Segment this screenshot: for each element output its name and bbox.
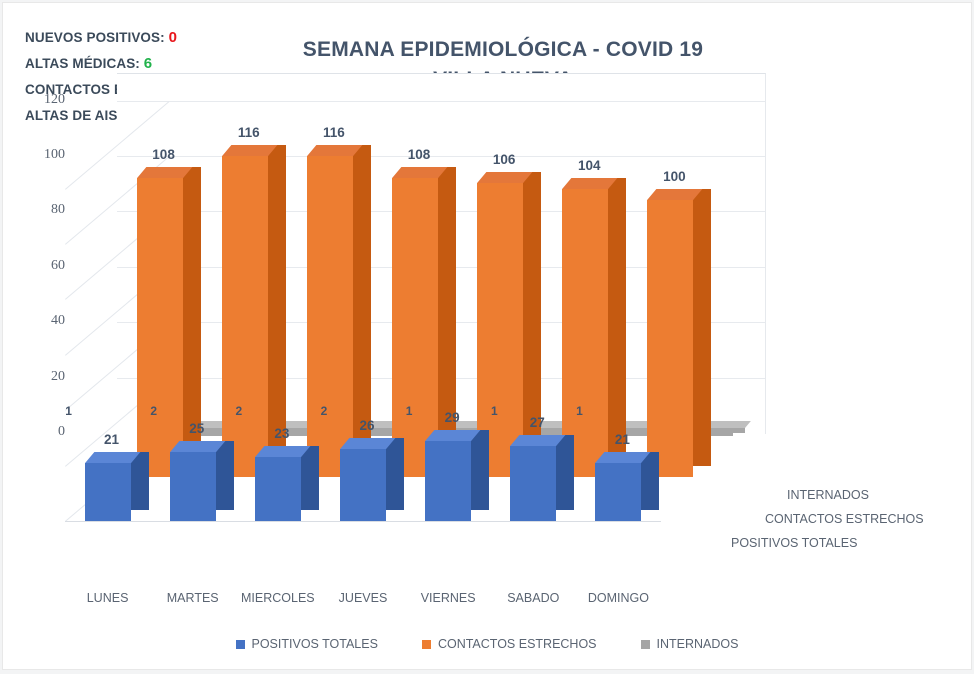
legend-label: INTERNADOS (657, 637, 739, 651)
bar-side (556, 435, 574, 510)
bar-face (510, 446, 556, 521)
bar-value-label: 21 (592, 432, 652, 447)
legend-label: POSITIVOS TOTALES (252, 637, 378, 651)
legend-item-contactos[interactable]: CONTACTOS ESTRECHOS (422, 637, 597, 651)
bar-value-label: 21 (82, 432, 142, 447)
stat-label: ALTAS MÉDICAS: (25, 56, 140, 71)
bar-value-label: 23 (252, 426, 312, 441)
bar-value-label: 116 (219, 125, 279, 140)
depth-axis: INTERNADOS CONTACTOS ESTRECHOS POSITIVOS… (765, 483, 971, 555)
depth-label-positivos: POSITIVOS TOTALES (731, 531, 971, 555)
bar-side (641, 452, 659, 510)
bar-face (647, 200, 693, 477)
stat-label: NUEVOS POSITIVOS: (25, 30, 165, 45)
bar-top (562, 178, 617, 189)
bar-value-label-internados: 1 (379, 404, 439, 418)
legend-swatch-blue (236, 640, 245, 649)
chart-title-line1: SEMANA EPIDEMIOLÓGICA - COVID 19 (253, 35, 753, 65)
bar-top (425, 430, 480, 441)
y-axis-tick: 0 (21, 424, 65, 440)
bar-value-label-internados: 1 (549, 404, 609, 418)
legend-item-positivos[interactable]: POSITIVOS TOTALES (236, 637, 378, 651)
bar-contactos-estrechos (647, 200, 693, 477)
bar-positivos-totales (510, 446, 556, 521)
bar-face (85, 463, 131, 521)
stat-value: 0 (169, 29, 177, 46)
bar-face (595, 463, 641, 521)
y-axis-tick: 100 (21, 147, 65, 163)
y-axis-tick: 120 (21, 92, 65, 108)
bar-value-label-internados: 2 (124, 404, 184, 418)
bar-value-label: 108 (134, 147, 194, 162)
bar-positivos-totales (595, 463, 641, 521)
y-axis-tick: 20 (21, 369, 65, 385)
legend-item-internados[interactable]: INTERNADOS (641, 637, 739, 651)
bar-positivos-totales (425, 441, 471, 521)
bar-top (137, 167, 192, 178)
bar-face (340, 449, 386, 521)
bar-value-label-internados: 2 (294, 404, 354, 418)
stat-value: 6 (144, 55, 152, 72)
y-axis: 020406080100120 (3, 153, 65, 573)
bar-top (307, 145, 362, 156)
x-axis-label: DOMINGO (568, 591, 668, 605)
depth-label-contactos: CONTACTOS ESTRECHOS (765, 507, 971, 531)
chart-legend: POSITIVOS TOTALES CONTACTOS ESTRECHOS IN… (3, 637, 971, 651)
bar-positivos-totales (85, 463, 131, 521)
y-axis-tick: 40 (21, 313, 65, 329)
bar-top (510, 435, 565, 446)
bar-side (301, 446, 319, 510)
bar-value-label: 108 (389, 147, 449, 162)
bar-positivos-totales (255, 457, 301, 521)
bar-face (425, 441, 471, 521)
bar-side (268, 145, 286, 466)
legend-swatch-orange (422, 640, 431, 649)
legend-swatch-gray (641, 640, 650, 649)
bar-side (608, 178, 626, 466)
bar-top (222, 145, 277, 156)
plot-area: 1081161161081061041002112522322622912712… (65, 161, 765, 573)
bar-side (693, 189, 711, 466)
bar-value-label: 100 (644, 169, 704, 184)
bar-positivos-totales (340, 449, 386, 521)
bar-value-label-internados: 1 (464, 404, 524, 418)
bar-top (647, 189, 702, 200)
bar-face (255, 457, 301, 521)
y-axis-tick: 80 (21, 202, 65, 218)
bar-value-label: 26 (337, 418, 397, 433)
bar-value-label-internados: 1 (39, 404, 99, 418)
bar-face (170, 452, 216, 521)
chart-card: NUEVOS POSITIVOS: 0 ALTAS MÉDICAS: 6 CON… (3, 3, 971, 669)
bar-top (340, 438, 395, 449)
bar-positivos-totales (170, 452, 216, 521)
bar-side (471, 430, 489, 510)
bar-value-label-internados: 2 (209, 404, 269, 418)
floor-front-edge (65, 521, 661, 522)
depth-label-internados: INTERNADOS (787, 483, 971, 507)
legend-label: CONTACTOS ESTRECHOS (438, 637, 597, 651)
bar-value-label: 116 (304, 125, 364, 140)
bar-value-label: 106 (474, 152, 534, 167)
gridline (117, 101, 765, 102)
bar-top (170, 441, 225, 452)
bar-value-label: 104 (559, 158, 619, 173)
bar-value-label: 25 (167, 421, 227, 436)
bar-side (216, 441, 234, 510)
bar-chart: 020406080100120 108116116108106104100211… (3, 153, 971, 669)
bar-side (386, 438, 404, 510)
bar-top (85, 452, 140, 463)
bar-top (392, 167, 447, 178)
bar-top (255, 446, 310, 457)
bar-top (595, 452, 650, 463)
y-axis-tick: 60 (21, 258, 65, 274)
